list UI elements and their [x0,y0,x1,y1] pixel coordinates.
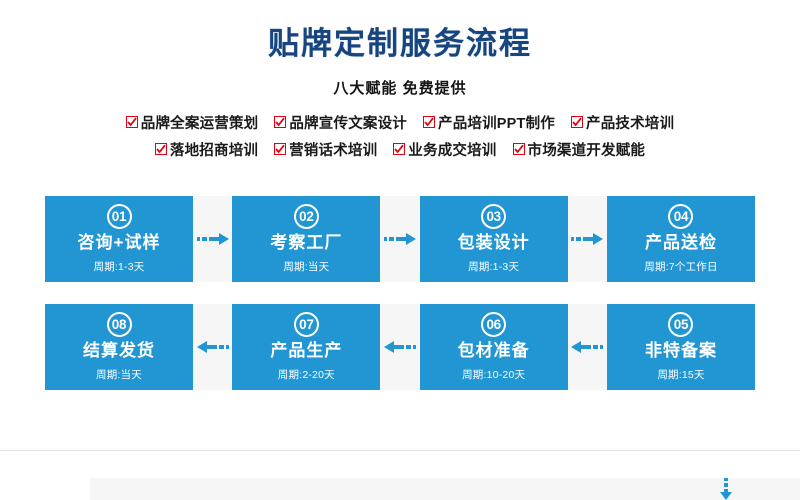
page-subtitle: 八大赋能 免费提供 [0,77,800,98]
flow-step-06[interactable]: 06 包材准备 周期:10-20天 [420,304,568,390]
flow-row-bottom: 08 结算发货 周期:当天 07 产品生产 周期:2-20天 [45,304,755,390]
step-cycle: 周期:7个工作日 [644,259,717,274]
step-cycle: 周期:2-20天 [278,367,335,382]
flow-step-05[interactable]: 05 非特备案 周期:15天 [607,304,755,390]
step-number: 07 [294,312,319,337]
arrow-right-icon [571,232,603,246]
benefit-item: 营销话术培训 [274,139,377,160]
connector-03-04 [568,196,607,282]
connector-05-06 [568,304,607,390]
checkbox-checked-icon [393,143,405,155]
checkbox-checked-icon [423,116,435,128]
checkbox-checked-icon [571,116,583,128]
step-cycle: 周期:1-3天 [468,259,519,274]
step-name: 产品生产 [270,342,342,361]
step-number: 02 [294,204,319,229]
benefits-row-2: 落地招商培训 营销话术培训 业务成交培训 市场渠道开发赋能 [0,136,800,163]
benefit-item: 市场渠道开发赋能 [513,139,646,160]
step-name: 包材准备 [458,342,530,361]
benefit-label: 产品技术培训 [586,112,674,133]
checkbox-checked-icon [155,143,167,155]
step-cycle: 周期:10-20天 [462,367,525,382]
arrow-left-icon [384,340,416,354]
arrow-left-icon [571,340,603,354]
benefit-label: 落地招商培训 [170,139,258,160]
benefit-label: 品牌宣传文案设计 [289,112,407,133]
step-name: 包装设计 [458,234,530,253]
arrow-right-icon [197,232,229,246]
step-cycle: 周期:1-3天 [94,259,145,274]
arrow-left-icon [197,340,229,354]
step-cycle: 周期:15天 [657,367,704,382]
step-number: 06 [481,312,506,337]
step-cycle: 周期:当天 [283,259,329,274]
benefit-label: 品牌全案运营策划 [141,112,259,133]
arrow-right-icon [384,232,416,246]
step-name: 非特备案 [645,342,717,361]
flow-step-08[interactable]: 08 结算发货 周期:当天 [45,304,193,390]
benefit-item: 品牌全案运营策划 [126,112,259,133]
step-number: 04 [668,204,693,229]
service-flow-infographic: 贴牌定制服务流程 八大赋能 免费提供 品牌全案运营策划 品牌宣传文案设计 产品培… [0,0,800,451]
flow-step-02[interactable]: 02 考察工厂 周期:当天 [232,196,380,282]
arrow-down-icon [719,478,733,500]
checkbox-checked-icon [274,116,286,128]
connector-02-03 [380,196,419,282]
checkbox-checked-icon [274,143,286,155]
connector-04-05 [90,478,800,500]
benefit-label: 市场渠道开发赋能 [528,139,646,160]
flow-step-04[interactable]: 04 产品送检 周期:7个工作日 [607,196,755,282]
step-name: 考察工厂 [270,234,342,253]
flow-step-03[interactable]: 03 包装设计 周期:1-3天 [420,196,568,282]
flow-step-01[interactable]: 01 咨询+试样 周期:1-3天 [45,196,193,282]
connector-06-07 [380,304,419,390]
step-cycle: 周期:当天 [96,367,142,382]
flow-row-top: 01 咨询+试样 周期:1-3天 02 考察工厂 周期:当天 [45,196,755,282]
step-name: 结算发货 [83,342,155,361]
connector-07-08 [193,304,232,390]
step-name: 产品送检 [645,234,717,253]
benefits-row-1: 品牌全案运营策划 品牌宣传文案设计 产品培训PPT制作 产品技术培训 [0,109,800,136]
benefit-item: 落地招商培训 [155,139,258,160]
step-number: 03 [481,204,506,229]
benefit-item: 业务成交培训 [393,139,496,160]
checkbox-checked-icon [513,143,525,155]
benefit-label: 产品培训PPT制作 [438,112,555,133]
step-number: 08 [107,312,132,337]
benefit-label: 业务成交培训 [408,139,496,160]
benefit-label: 营销话术培训 [289,139,377,160]
connector-01-02 [193,196,232,282]
benefit-item: 品牌宣传文案设计 [274,112,407,133]
process-flow-diagram: 01 咨询+试样 周期:1-3天 02 考察工厂 周期:当天 [45,196,755,390]
page-title: 贴牌定制服务流程 [0,0,800,62]
benefit-item: 产品技术培训 [571,112,674,133]
flow-step-07[interactable]: 07 产品生产 周期:2-20天 [232,304,380,390]
benefit-item: 产品培训PPT制作 [423,112,555,133]
checkbox-checked-icon [126,116,138,128]
step-number: 01 [107,204,132,229]
benefits-list: 品牌全案运营策划 品牌宣传文案设计 产品培训PPT制作 产品技术培训 [0,109,800,163]
step-name: 咨询+试样 [78,234,161,253]
step-number: 05 [668,312,693,337]
